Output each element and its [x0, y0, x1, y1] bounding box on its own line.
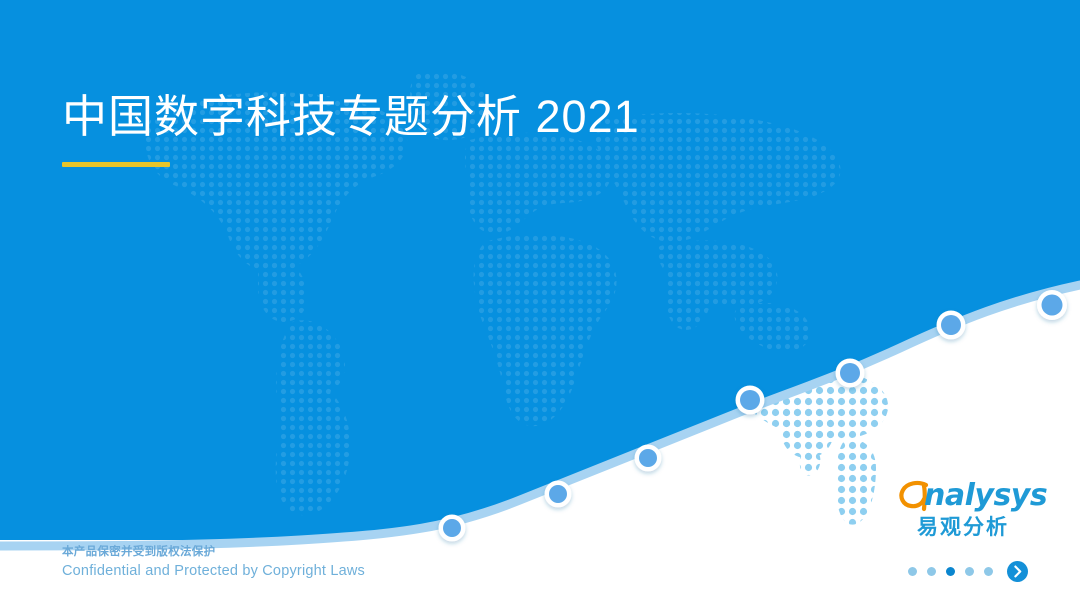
pagination-dot-2[interactable]: [927, 567, 936, 576]
pagination-dot-3[interactable]: [946, 567, 955, 576]
logo-wordmark: nalysys: [924, 479, 1047, 513]
analysys-logo: nalysys 易观分析: [898, 479, 1028, 541]
pagination-dot-4[interactable]: [965, 567, 974, 576]
next-slide-button[interactable]: [1007, 561, 1028, 582]
pagination[interactable]: [908, 561, 1028, 582]
footer-line-en: Confidential and Protected by Copyright …: [62, 561, 482, 582]
title-accent-rule: [62, 162, 170, 167]
page-title: 中国数字科技专题分析 2021: [62, 88, 862, 146]
logo-name-cn: 易观分析: [898, 515, 1028, 541]
title-block: 中国数字科技专题分析 2021: [62, 88, 862, 167]
chevron-right-icon: [1007, 561, 1028, 582]
logo-wordmark-row: nalysys: [898, 479, 1028, 513]
slide-canvas: 中国数字科技专题分析 2021 本产品保密并受到版权法保护 Confidenti…: [0, 0, 1080, 608]
footer-line-cn: 本产品保密并受到版权法保护: [62, 544, 482, 561]
pagination-dot-5[interactable]: [984, 567, 993, 576]
copyright-footer: 本产品保密并受到版权法保护 Confidential and Protected…: [62, 544, 482, 582]
pagination-dot-1[interactable]: [908, 567, 917, 576]
